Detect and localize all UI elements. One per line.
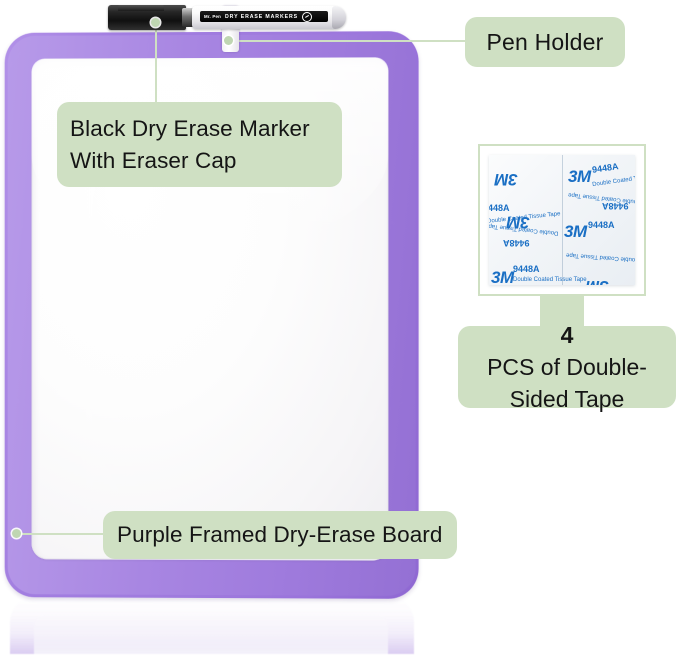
leader-line-board — [17, 533, 107, 535]
marker-logo-icon — [302, 12, 312, 22]
marker-eraser-cap — [108, 5, 186, 30]
tape-photo: 3M 9448A Double Coated Tissue Tape 3M 94… — [489, 155, 635, 285]
callout-marker-line-2: With Eraser Cap — [70, 145, 329, 177]
tape-brand-text: 3M — [491, 268, 514, 285]
callout-tape-line-1-text: PCS of Double- — [487, 351, 647, 383]
callout-marker-line-1: Black Dry Erase Marker — [70, 113, 329, 145]
dry-erase-marker: Mr. Pen DRY ERASE MARKERS — [108, 2, 346, 32]
tape-description-text: Double Coated Tissue Tape — [592, 172, 635, 188]
whiteboard-reflection — [10, 596, 414, 654]
marker-tip-end — [332, 6, 346, 29]
tape-brand-text: 3M — [495, 169, 518, 189]
callout-tape-line-1: 4 PCS of Double- — [487, 319, 647, 383]
leader-line-pen-holder — [228, 40, 468, 42]
callout-pen-holder: Pen Holder — [465, 17, 625, 67]
tape-code-text: 9448A — [588, 220, 615, 230]
product-infographic: Mr. Pen DRY ERASE MARKERS 3M 9448A Doubl… — [0, 0, 679, 655]
leader-dot-pen-holder — [224, 36, 233, 45]
marker-barrel: Mr. Pen DRY ERASE MARKERS — [192, 6, 346, 29]
tape-brand-text: 3M — [568, 167, 591, 187]
marker-cap-clip — [118, 5, 164, 11]
marker-label-band: Mr. Pen DRY ERASE MARKERS — [200, 11, 328, 22]
tape-description-text: Double Coated Tissue Tape — [566, 251, 635, 262]
callout-board-line-1: Purple Framed Dry-Erase Board — [117, 522, 443, 548]
callout-marker: Black Dry Erase Marker With Eraser Cap — [57, 102, 342, 187]
callout-tape-count: 4 — [561, 322, 574, 348]
leader-line-marker — [155, 22, 157, 106]
callout-pen-holder-line-1: Pen Holder — [486, 29, 603, 56]
double-sided-tape-photo-panel: 3M 9448A Double Coated Tissue Tape 3M 94… — [478, 144, 646, 296]
tape-brand-text: 3M — [564, 222, 587, 242]
tape-code-text: 9448A — [591, 161, 619, 175]
tape-square-bottom-right: 3M 9448A Double Coated Tissue Tape 3M — [562, 220, 635, 285]
tape-code-text: 9448A — [503, 238, 530, 248]
callout-tape: 4 PCS of Double- Sided Tape — [458, 326, 676, 408]
leader-dot-board — [12, 529, 21, 538]
whiteboard-reflection-surface — [34, 614, 388, 654]
marker-barrel-text: DRY ERASE MARKERS — [225, 14, 298, 20]
tape-square-top-right: 3M 9448A Double Coated Tissue Tape 9448A… — [562, 155, 635, 220]
callout-board: Purple Framed Dry-Erase Board — [103, 511, 457, 559]
tape-square-bottom-left: 3M 9448A Double Coated Tissue Tape 3M 94… — [489, 220, 562, 285]
marker-brand-text: Mr. Pen — [204, 14, 221, 19]
tape-code-text: 9448A — [513, 264, 540, 274]
tape-brand-text: 3M — [586, 276, 609, 285]
leader-dot-marker — [151, 18, 160, 27]
callout-tape-line-2: Sided Tape — [510, 383, 625, 415]
tape-square-top-left: 3M 9448A Double Coated Tissue Tape — [489, 155, 562, 220]
